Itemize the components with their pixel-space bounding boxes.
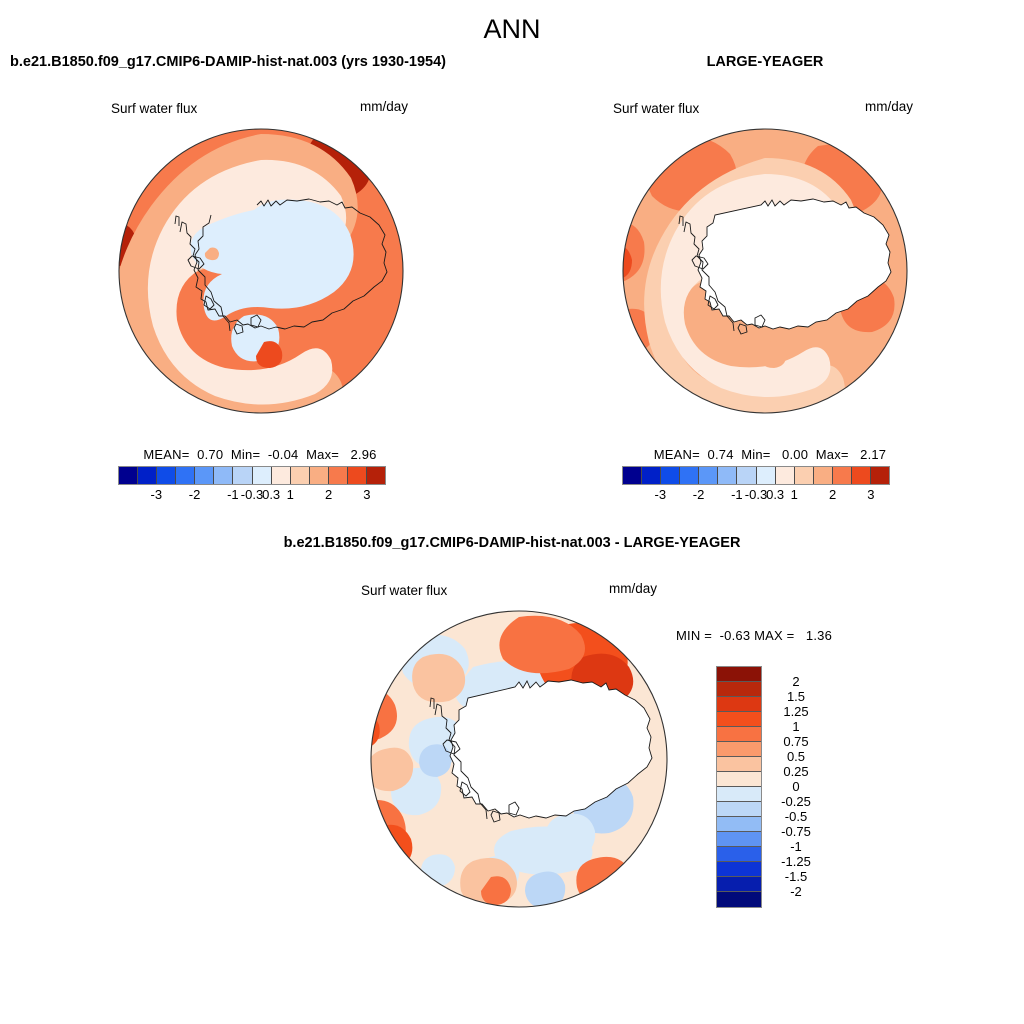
tick-label: -0.3	[241, 487, 263, 502]
right-colorbar-strip[interactable]	[622, 466, 890, 485]
tick-label: 0.25	[768, 764, 824, 779]
tick-label: -0.5	[768, 809, 824, 824]
tick-label: 1.25	[768, 704, 824, 719]
left-units-label: mm/day	[360, 99, 408, 114]
left-colorbar-ticks: -3 -2 -1 -0.3 0.3 1 2 3	[118, 485, 386, 505]
tick-label: -0.3	[745, 487, 767, 502]
diff-panel-title: b.e21.B1850.f09_g17.CMIP6-DAMIP-hist-nat…	[0, 535, 1024, 551]
tick-label: -2	[693, 487, 705, 502]
tick-label: 0.3	[262, 487, 280, 502]
diff-map	[369, 609, 669, 909]
diff-map-svg	[369, 609, 669, 909]
tick-label: -1	[768, 839, 824, 854]
tick-label: 0.75	[768, 734, 824, 749]
tick-label: 1	[791, 487, 798, 502]
left-panel-title: b.e21.B1850.f09_g17.CMIP6-DAMIP-hist-nat…	[10, 54, 530, 70]
diff-variable-label: Surf water flux	[361, 583, 447, 598]
tick-label: 1.5	[768, 689, 824, 704]
tick-label: 1	[768, 719, 824, 734]
tick-label: -0.25	[768, 794, 824, 809]
tick-label: 2	[829, 487, 836, 502]
left-map	[118, 128, 404, 414]
right-units-label: mm/day	[865, 99, 913, 114]
tick-label: 3	[867, 487, 874, 502]
right-colorbar: -3 -2 -1 -0.3 0.3 1 2 3	[622, 466, 890, 505]
right-variable-label: Surf water flux	[613, 101, 699, 116]
diff-colorbar: 2 1.5 1.25 1 0.75 0.5 0.25 0 -0.25 -0.5 …	[716, 666, 762, 908]
left-colorbar: -3 -2 -1 -0.3 0.3 1 2 3	[118, 466, 386, 505]
diff-units-label: mm/day	[609, 581, 657, 596]
tick-label: 0	[768, 779, 824, 794]
left-stats: MEAN= 0.70 Min= -0.04 Max= 2.96	[110, 447, 410, 462]
tick-label: -1.25	[768, 854, 824, 869]
tick-label: -1	[227, 487, 239, 502]
tick-label: 3	[363, 487, 370, 502]
tick-label: 0.5	[768, 749, 824, 764]
right-map-svg	[622, 128, 908, 414]
diff-stats: MIN = -0.63 MAX = 1.36	[676, 628, 832, 643]
tick-label: -1	[731, 487, 743, 502]
tick-label: 0.3	[766, 487, 784, 502]
tick-label: -2	[768, 884, 824, 899]
tick-label: -2	[189, 487, 201, 502]
main-title: ANN	[0, 14, 1024, 45]
tick-label: -3	[151, 487, 163, 502]
right-colorbar-ticks: -3 -2 -1 -0.3 0.3 1 2 3	[622, 485, 890, 505]
left-colorbar-strip[interactable]	[118, 466, 386, 485]
tick-label: -1.5	[768, 869, 824, 884]
tick-label: 2	[768, 674, 824, 689]
diff-colorbar-strip[interactable]	[716, 666, 762, 908]
right-stats: MEAN= 0.74 Min= 0.00 Max= 2.17	[615, 447, 925, 462]
left-variable-label: Surf water flux	[111, 101, 197, 116]
tick-label: 1	[287, 487, 294, 502]
right-panel-title: LARGE-YEAGER	[600, 54, 930, 70]
tick-label: -0.75	[768, 824, 824, 839]
right-map	[622, 128, 908, 414]
left-map-svg	[118, 128, 404, 414]
tick-label: -3	[655, 487, 667, 502]
tick-label: 2	[325, 487, 332, 502]
